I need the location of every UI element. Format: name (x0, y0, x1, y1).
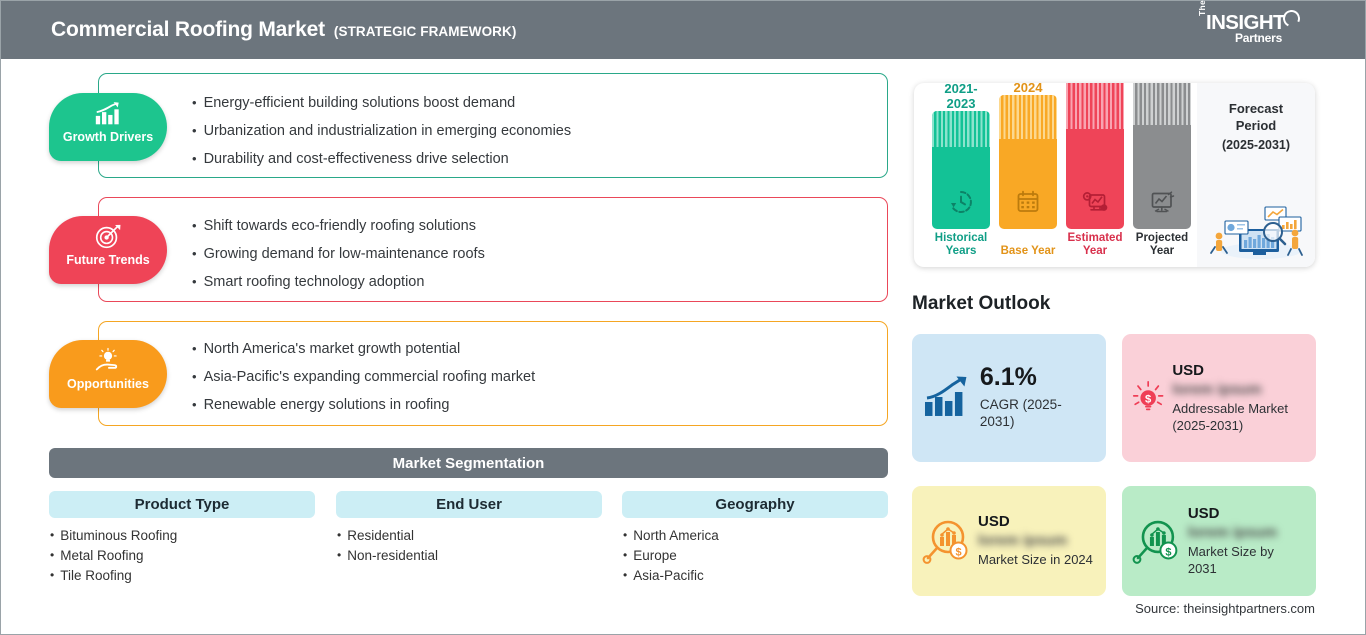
forecast-period-card: 2021-2023 Historical Years 2024 (914, 83, 1315, 267)
cagr-value: 6.1% (980, 365, 1096, 390)
bullet-dot-icon: • (623, 566, 627, 585)
outlook-card-market-size-2031: $ USD lorem ipsum Market Size by 2031 (1122, 486, 1316, 596)
list-item: • Bituminous Roofing (50, 526, 315, 546)
bullet-item: • Smart roofing technology adoption (192, 275, 485, 291)
card-label: Market Size in 2024 (978, 552, 1093, 568)
bullet-item: • Renewable energy solutions in roofing (192, 398, 535, 414)
bullet-text: Smart roofing technology adoption (204, 275, 425, 291)
segmentation-column-header: Geography (622, 491, 888, 518)
data-analysis-illustration (1203, 199, 1309, 261)
blurred-value: lorem ipsum (1172, 381, 1306, 398)
bullet-text: Shift towards eco-friendly roofing solut… (204, 219, 476, 235)
bullets-growth-drivers: • Energy-efficient building solutions bo… (192, 96, 571, 168)
bullet-item: • Durability and cost-effectiveness driv… (192, 152, 571, 168)
bullets-future-trends: • Shift towards eco-friendly roofing sol… (192, 219, 485, 291)
segmentation-item-list: • North America • Europe • Asia-Pacific (622, 526, 888, 586)
bar-year-label: 2021-2023 (932, 83, 990, 111)
currency-label: USD (978, 513, 1093, 530)
segmentation-column-title: End User (436, 496, 502, 513)
bar-stripe-overlay (999, 95, 1057, 139)
bullet-text: Urbanization and industrialization in em… (204, 124, 572, 140)
calendar-icon (1015, 189, 1041, 215)
market-segmentation-header: Market Segmentation (49, 448, 888, 478)
list-item: • Residential (337, 526, 602, 546)
svg-text:$: $ (1145, 394, 1152, 406)
list-item-label: Bituminous Roofing (60, 526, 177, 546)
list-item-label: Non-residential (347, 546, 438, 566)
badge-label: Growth Drivers (63, 130, 153, 144)
bar-rect (1066, 83, 1124, 229)
outlook-card-inner: $ USD lorem ipsum Market Size by 2031 (1122, 486, 1316, 596)
outlook-card-text: USD lorem ipsum Market Size in 2024 (978, 513, 1093, 568)
svg-text:$: $ (1165, 546, 1171, 558)
bullet-dot-icon: • (623, 546, 627, 565)
insight-partners-logo: The INSIGHT Partners (1197, 10, 1307, 50)
segmentation-column-title: Product Type (135, 496, 230, 513)
source-attribution: Source: theinsightpartners.com (1135, 601, 1315, 616)
forecast-period-range: (2025-2031) (1197, 138, 1315, 152)
segmentation-column-end-user: End User • Residential • Non-residential (336, 491, 602, 566)
bullet-dot-icon: • (50, 546, 54, 565)
segmentation-column-title: Geography (715, 496, 794, 513)
badge-growth-drivers[interactable]: Growth Drivers (49, 93, 167, 161)
outlook-card-inner: 6.1% CAGR (2025-2031) (912, 334, 1106, 462)
header-title-wrap: Commercial Roofing Market (STRATEGIC FRA… (1, 18, 516, 42)
cagr-label: CAGR (2025-2031) (980, 397, 1096, 431)
list-item: • Metal Roofing (50, 546, 315, 566)
outlook-card-cagr: 6.1% CAGR (2025-2031) (912, 334, 1106, 462)
bullet-dot-icon: • (623, 526, 627, 545)
list-item-label: Residential (347, 526, 414, 546)
list-item: • Non-residential (337, 546, 602, 566)
bullet-text: Asia-Pacific's expanding commercial roof… (204, 370, 536, 386)
bar-caption-text: Historical Years (935, 232, 987, 258)
badge-opportunities[interactable]: Opportunities (49, 340, 167, 408)
bullet-dot-icon: • (50, 526, 54, 545)
segmentation-item-list: • Bituminous Roofing • Metal Roofing • T… (49, 526, 315, 586)
outlook-card-inner: $ USD lorem ipsum Addressable Market (20… (1122, 334, 1316, 462)
lightbulb-hand-icon (93, 347, 123, 375)
bullet-dot-icon: • (192, 152, 197, 167)
forecast-period-title: Forecast Period (1197, 101, 1315, 135)
currency-label: USD (1188, 505, 1306, 522)
bullet-text: Energy-efficient building solutions boos… (204, 96, 516, 112)
bullet-item: • Urbanization and industrialization in … (192, 124, 571, 140)
presentation-chart-icon (1149, 189, 1176, 215)
bullet-item: • Growing demand for low-maintenance roo… (192, 247, 485, 263)
bar-chart-growth-icon (93, 100, 123, 128)
page-subtitle: (STRATEGIC FRAMEWORK) (334, 24, 517, 39)
bar-caption-text: Base Year (1001, 245, 1056, 257)
list-item: • North America (623, 526, 888, 546)
list-item-label: Metal Roofing (60, 546, 143, 566)
bullet-text: Durability and cost-effectiveness drive … (204, 152, 509, 168)
bar-caption: Historical Years (932, 232, 990, 259)
outlook-card-text: 6.1% CAGR (2025-2031) (980, 365, 1096, 431)
bullet-dot-icon: • (192, 275, 197, 290)
bullet-item: • North America's market growth potentia… (192, 342, 535, 358)
bullet-dot-icon: • (192, 96, 197, 111)
bullet-text: Renewable energy solutions in roofing (204, 398, 450, 414)
page-header: Commercial Roofing Market (STRATEGIC FRA… (1, 1, 1365, 59)
magnifier-chart-dollar-icon: $ (1132, 517, 1180, 565)
outlook-card-inner: $ USD lorem ipsum Market Size in 2024 (912, 486, 1106, 596)
bullet-dot-icon: • (192, 124, 197, 139)
bar-caption-text: Estimated Year (1068, 232, 1123, 258)
badge-future-trends[interactable]: Future Trends (49, 216, 167, 284)
bar-stripe-overlay (1133, 83, 1191, 125)
forecast-period-panel: Forecast Period (2025-2031) (1197, 83, 1315, 267)
gear-forecast-icon (1081, 189, 1109, 215)
bar-caption: Estimated Year (1066, 232, 1124, 259)
infographic-canvas: Commercial Roofing Market (STRATEGIC FRA… (0, 0, 1366, 635)
magnifier-chart-dollar-icon: $ (922, 517, 970, 565)
bar-stripe-overlay (1066, 83, 1124, 129)
bullet-dot-icon: • (192, 370, 197, 385)
segmentation-column-header: End User (336, 491, 602, 518)
segmentation-column-geography: Geography • North America • Europe • Asi… (622, 491, 888, 586)
market-outlook-title: Market Outlook (912, 293, 1050, 315)
badge-label: Future Trends (66, 253, 149, 267)
blurred-value: lorem ipsum (978, 532, 1093, 549)
bullet-dot-icon: • (192, 219, 197, 234)
outlook-card-market-size-2024: $ USD lorem ipsum Market Size in 2024 (912, 486, 1106, 596)
bar-year-label: 2024 (999, 83, 1057, 95)
market-segmentation-title: Market Segmentation (393, 455, 545, 472)
bullet-item: • Asia-Pacific's expanding commercial ro… (192, 370, 535, 386)
bar-caption: Base Year (999, 245, 1057, 259)
list-item: • Tile Roofing (50, 566, 315, 586)
bullet-dot-icon: • (50, 566, 54, 585)
bullet-dot-icon: • (192, 247, 197, 262)
card-label: Addressable Market (2025-2031) (1172, 401, 1306, 434)
outlook-card-text: USD lorem ipsum Market Size by 2031 (1188, 505, 1306, 577)
bullet-text: North America's market growth potential (204, 342, 461, 358)
list-item: • Asia-Pacific (623, 566, 888, 586)
logo-partners-text: Partners (1235, 31, 1282, 45)
page-title: Commercial Roofing Market (51, 18, 325, 42)
outlook-card-addressable-market: $ USD lorem ipsum Addressable Market (20… (1122, 334, 1316, 462)
svg-text:$: $ (955, 547, 961, 559)
forecast-title-line2: Period (1236, 118, 1276, 133)
lightbulb-dollar-icon: $ (1132, 373, 1164, 423)
target-dart-icon (93, 223, 123, 251)
segmentation-column-product-type: Product Type • Bituminous Roofing • Meta… (49, 491, 315, 586)
clock-history-icon (948, 189, 974, 215)
bar-rect (999, 95, 1057, 229)
segmentation-item-list: • Residential • Non-residential (336, 526, 602, 566)
growth-bar-chart-icon (922, 376, 972, 420)
bullet-dot-icon: • (337, 546, 341, 565)
card-label: Market Size by 2031 (1188, 544, 1306, 577)
list-item-label: Europe (633, 546, 677, 566)
list-item-label: Asia-Pacific (633, 566, 704, 586)
bullet-item: • Energy-efficient building solutions bo… (192, 96, 571, 112)
bar-caption: Projected Year (1133, 232, 1191, 259)
bullet-text: Growing demand for low-maintenance roofs (204, 247, 485, 263)
bar-caption-text: Projected Year (1136, 232, 1188, 258)
bullet-dot-icon: • (337, 526, 341, 545)
list-item-label: North America (633, 526, 719, 546)
bar-stripe-overlay (932, 111, 990, 147)
segmentation-column-header: Product Type (49, 491, 315, 518)
currency-label: USD (1172, 362, 1306, 379)
forecast-title-line1: Forecast (1229, 101, 1283, 116)
outlook-card-text: USD lorem ipsum Addressable Market (2025… (1172, 362, 1306, 434)
forecast-bar-chart: 2021-2023 Historical Years 2024 (914, 83, 1197, 267)
bar-rect (1133, 83, 1191, 229)
bullet-item: • Shift towards eco-friendly roofing sol… (192, 219, 485, 235)
bullet-dot-icon: • (192, 398, 197, 413)
bar-rect (932, 111, 990, 229)
list-item-label: Tile Roofing (60, 566, 132, 586)
bullet-dot-icon: • (192, 342, 197, 357)
badge-label: Opportunities (67, 377, 149, 391)
blurred-value: lorem ipsum (1188, 524, 1306, 541)
list-item: • Europe (623, 546, 888, 566)
bullets-opportunities: • North America's market growth potentia… (192, 342, 535, 414)
